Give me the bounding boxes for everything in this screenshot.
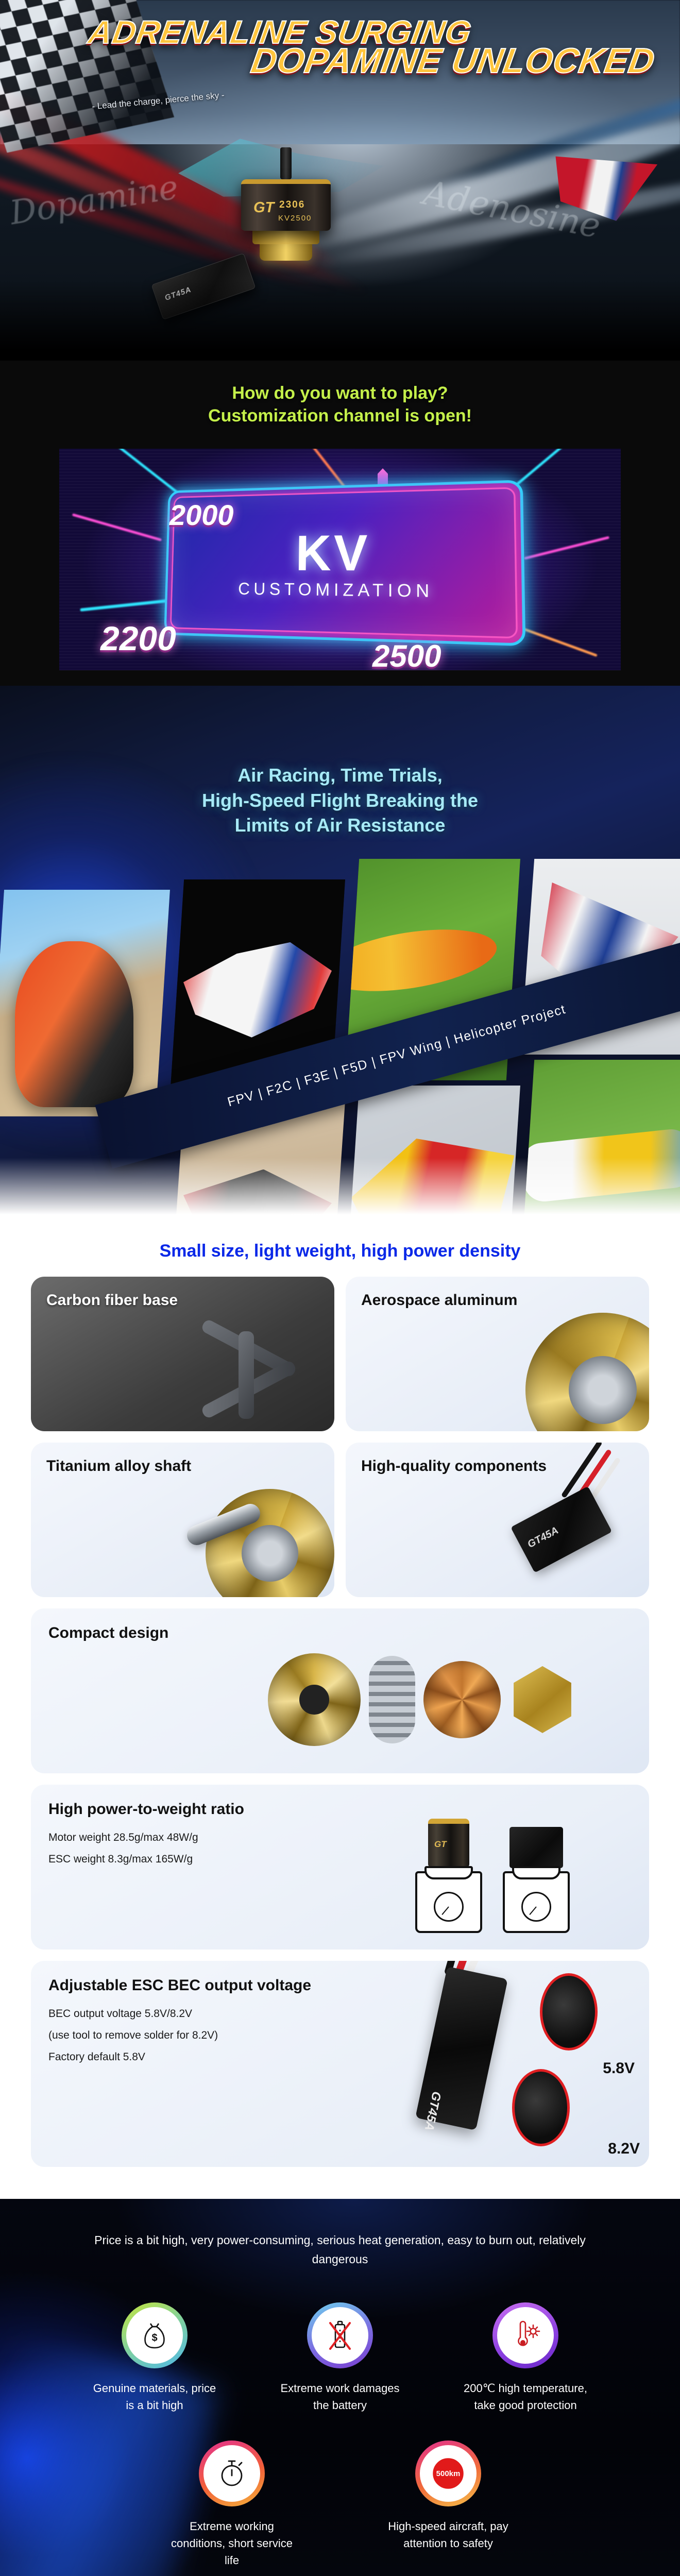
- magnet-ring-part: [369, 1656, 415, 1743]
- bec-card-line2: (use tool to remove solder for 8.2V): [48, 2027, 632, 2044]
- air-heading: Air Racing, Time Trials, High-Speed Flig…: [0, 763, 680, 838]
- caution-section: Price is a bit high, very power-consumin…: [0, 2199, 680, 2576]
- motor-shaft: [280, 147, 292, 179]
- caution-row-2: Extreme working conditions, short servic…: [0, 2441, 680, 2569]
- hero-banner: Dopamine Adenosine KV2500 ADRENALINE SUR…: [0, 0, 680, 361]
- collage-tile-helicopter: [0, 890, 170, 1116]
- exploded-motor-image: [268, 1630, 639, 1769]
- svg-text:$: $: [151, 2332, 157, 2344]
- bec-card-title: Adjustable ESC BEC output voltage: [48, 1976, 632, 1995]
- product-landing-page: Dopamine Adenosine KV2500 ADRENALINE SUR…: [0, 0, 680, 2576]
- caution-item-short-service-life: Extreme working conditions, short servic…: [167, 2441, 296, 2569]
- air-racing-section: Air Racing, Time Trials, High-Speed Flig…: [0, 686, 680, 1219]
- caution-item-label: Extreme work damages the battery: [276, 2380, 404, 2414]
- hero-motor-product: KV2500: [241, 179, 331, 261]
- power-card-title: High power-to-weight ratio: [48, 1800, 632, 1819]
- aluminum-stator-image: [525, 1313, 649, 1431]
- caution-item-genuine-materials: $ Genuine materials, price is a bit high: [90, 2302, 219, 2414]
- feature-card-carbon-fiber-base: Carbon fiber base: [31, 1277, 334, 1431]
- caution-row-1: $ Genuine materials, price is a bit high…: [0, 2302, 680, 2414]
- hero-title-line2: DOPAMINE UNLOCKED: [249, 45, 680, 78]
- feature-card-high-quality-components: High-quality components: [346, 1443, 649, 1597]
- kv-banner-image: KV CUSTOMIZATION 2000 2200 2500: [59, 449, 621, 670]
- stator-winding-part: [423, 1661, 501, 1738]
- speed-limit-500km-icon: 500km: [415, 2441, 481, 2506]
- caution-item-high-temperature: 200℃ high temperature, take good protect…: [461, 2302, 590, 2414]
- motor-can: KV2500: [241, 179, 331, 231]
- motor-base: [260, 244, 312, 261]
- hero-title: ADRENALINE SURGING DOPAMINE UNLOCKED: [0, 18, 680, 78]
- feature-card-title: Aerospace aluminum: [361, 1291, 634, 1310]
- motor-mount-part: [509, 1666, 576, 1733]
- caution-item-label: Extreme working conditions, short servic…: [167, 2518, 296, 2569]
- caution-note: Price is a bit high, very power-consumin…: [88, 2231, 592, 2269]
- power-card-line2: ESC weight 8.3g/max 165W/g: [48, 1851, 632, 1868]
- feature-card-power-to-weight: High power-to-weight ratio Motor weight …: [31, 1785, 649, 1950]
- feature-card-titanium-alloy-shaft: Titanium alloy shaft: [31, 1443, 334, 1597]
- kv-value-2200: 2200: [100, 619, 176, 658]
- scale-icon: [503, 1871, 570, 1933]
- carbon-fiber-frame-image: [182, 1321, 321, 1424]
- motor-kv-label: KV2500: [278, 214, 312, 223]
- power-card-line1: Motor weight 28.5g/max 48W/g: [48, 1829, 632, 1846]
- features-section: Small size, light weight, high power den…: [0, 1219, 680, 2199]
- bec-card-line1: BEC output voltage 5.8V/8.2V: [48, 2005, 632, 2023]
- collage-bottom-fade: [0, 1158, 680, 1219]
- kv-heading-line1: How do you want to play?: [0, 382, 680, 405]
- thermometer-sun-icon: [492, 2302, 558, 2368]
- air-heading-line3: Limits of Air Resistance: [0, 813, 680, 838]
- feature-row-2: Titanium alloy shaft High-quality compon…: [31, 1443, 649, 1597]
- bec-card-line3: Factory default 5.8V: [48, 2048, 632, 2066]
- kv-heading: How do you want to play? Customization c…: [0, 382, 680, 427]
- feature-row-1: Carbon fiber base Aerospace aluminum: [31, 1277, 649, 1431]
- feature-card-title: Titanium alloy shaft: [46, 1457, 319, 1476]
- caution-item-label: 200℃ high temperature, take good protect…: [461, 2380, 590, 2414]
- scale-icon: [415, 1871, 482, 1933]
- kv-value-2000: 2000: [169, 498, 234, 532]
- feature-card-title: Compact design: [48, 1624, 632, 1643]
- svg-text:500km: 500km: [436, 2469, 461, 2478]
- money-bag-icon: $: [122, 2302, 188, 2368]
- air-heading-line2: High-Speed Flight Breaking the: [0, 788, 680, 814]
- feature-card-compact-design: Compact design: [31, 1608, 649, 1773]
- caution-item-battery-damage: Extreme work damages the battery: [276, 2302, 404, 2414]
- stopwatch-icon: [199, 2441, 265, 2506]
- bec-callout-82v: 8.2V: [608, 2140, 640, 2158]
- kv-customization-section: How do you want to play? Customization c…: [0, 361, 680, 686]
- feature-card-bec-voltage: Adjustable ESC BEC output voltage BEC ou…: [31, 1961, 649, 2167]
- titanium-shaft-image: [185, 1458, 314, 1587]
- caution-item-high-speed-safety: 500km High-speed aircraft, pay attention…: [384, 2441, 513, 2569]
- aircraft-photo-collage: FPV | F2C | F3E | F5D | FPV Wing | Helic…: [0, 859, 680, 1219]
- kv-value-2500: 2500: [372, 638, 441, 670]
- feature-card-aerospace-aluminum: Aerospace aluminum: [346, 1277, 649, 1431]
- features-heading: Small size, light weight, high power den…: [0, 1224, 680, 1277]
- motor-bell-part: [268, 1653, 361, 1746]
- kv-screen-title: KV: [295, 523, 370, 582]
- battery-crossed-icon: [307, 2302, 373, 2368]
- kv-screen-subtitle: CUSTOMIZATION: [238, 580, 434, 602]
- feature-card-title: High-quality components: [361, 1457, 634, 1476]
- caution-item-label: High-speed aircraft, pay attention to sa…: [384, 2518, 513, 2552]
- kv-heading-line2: Customization channel is open!: [0, 405, 680, 428]
- caution-item-label: Genuine materials, price is a bit high: [90, 2380, 219, 2414]
- hero-bottom-fade: [0, 278, 680, 361]
- motor-bell: [252, 231, 319, 244]
- esc-pcb: [511, 1486, 612, 1573]
- solder-pad-zoom-bottom: [512, 2069, 570, 2146]
- air-heading-line1: Air Racing, Time Trials,: [0, 763, 680, 788]
- feature-card-title: Carbon fiber base: [46, 1291, 319, 1310]
